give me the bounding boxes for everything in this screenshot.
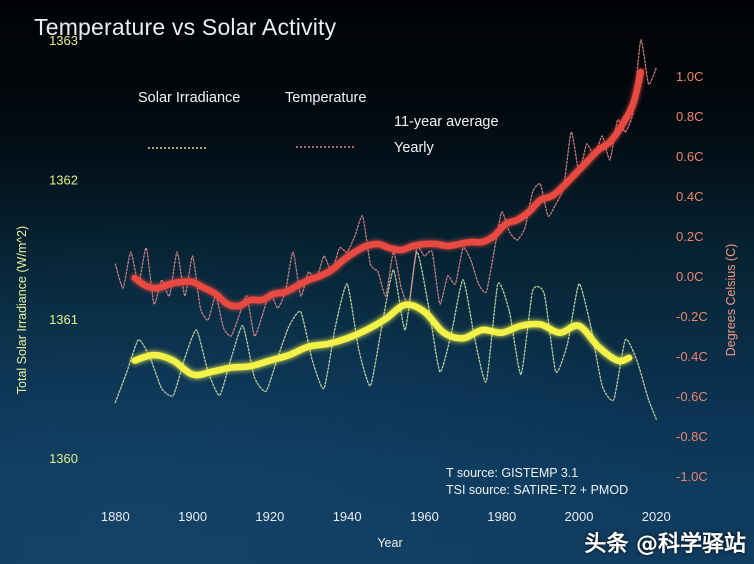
- x-axis-ticks: 18801900192019401960198020002020: [101, 509, 671, 524]
- right-tick-label: -0.4C: [676, 349, 708, 364]
- left-tick-label: 1362: [49, 172, 78, 187]
- right-tick-label: -0.2C: [676, 309, 708, 324]
- left-tick-label: 1363: [49, 33, 78, 48]
- left-axis-ticks: 1360136113621363: [49, 33, 78, 466]
- right-tick-label: 0.4C: [676, 189, 703, 204]
- right-tick-label: 0.2C: [676, 229, 703, 244]
- series-temperature-11-year-average: [135, 72, 641, 306]
- series-solar-irradiance-11-year-average: [135, 305, 630, 375]
- right-axis-ticks: -1.0C-0.8C-0.6C-0.4C-0.2C0.0C0.2C0.4C0.6…: [676, 69, 708, 484]
- x-tick-label: 1920: [255, 509, 284, 524]
- chart-svg: 1360136113621363 -1.0C-0.8C-0.6C-0.4C-0.…: [0, 0, 754, 564]
- source-tsi: TSI source: SATIRE-T2 + PMOD: [446, 483, 628, 497]
- right-axis-title: Degrees Celsius (C): [724, 244, 738, 357]
- legend-solar-label: Solar Irradiance: [138, 90, 240, 106]
- source-temperature: T source: GISTEMP 3.1: [446, 466, 578, 480]
- right-tick-label: 0.6C: [676, 149, 703, 164]
- right-tick-label: -0.8C: [676, 429, 708, 444]
- right-tick-label: 1.0C: [676, 69, 703, 84]
- series-temperature-yearly: [115, 40, 656, 336]
- x-tick-label: 1980: [487, 509, 516, 524]
- legend-temp-label: Temperature: [285, 90, 366, 106]
- x-tick-label: 1940: [333, 509, 362, 524]
- x-tick-label: 1880: [101, 509, 130, 524]
- right-tick-label: 0.0C: [676, 269, 703, 284]
- right-tick-label: -1.0C: [676, 469, 708, 484]
- left-tick-label: 1361: [49, 312, 78, 327]
- right-tick-label: -0.6C: [676, 389, 708, 404]
- left-axis-title: Total Solar Irradiance (W/m^2): [15, 226, 29, 394]
- legend-yearly-label: Yearly: [394, 140, 435, 156]
- legend: Solar Irradiance Temperature 11-year ave…: [138, 90, 499, 156]
- series-solar-irradiance-yearly: [115, 252, 656, 419]
- x-tick-label: 1900: [178, 509, 207, 524]
- chart-page: Temperature vs Solar Activity 1360136113…: [0, 0, 754, 564]
- x-tick-label: 1960: [410, 509, 439, 524]
- legend-average-label: 11-year average: [394, 114, 499, 130]
- watermark: 头条 @科学驿站: [584, 526, 746, 558]
- right-tick-label: 0.8C: [676, 109, 703, 124]
- x-tick-label: 2000: [565, 509, 594, 524]
- left-tick-label: 1360: [49, 451, 78, 466]
- x-axis-title: Year: [377, 536, 402, 550]
- x-tick-label: 2020: [642, 509, 671, 524]
- source-annotations: T source: GISTEMP 3.1 TSI source: SATIRE…: [446, 466, 628, 497]
